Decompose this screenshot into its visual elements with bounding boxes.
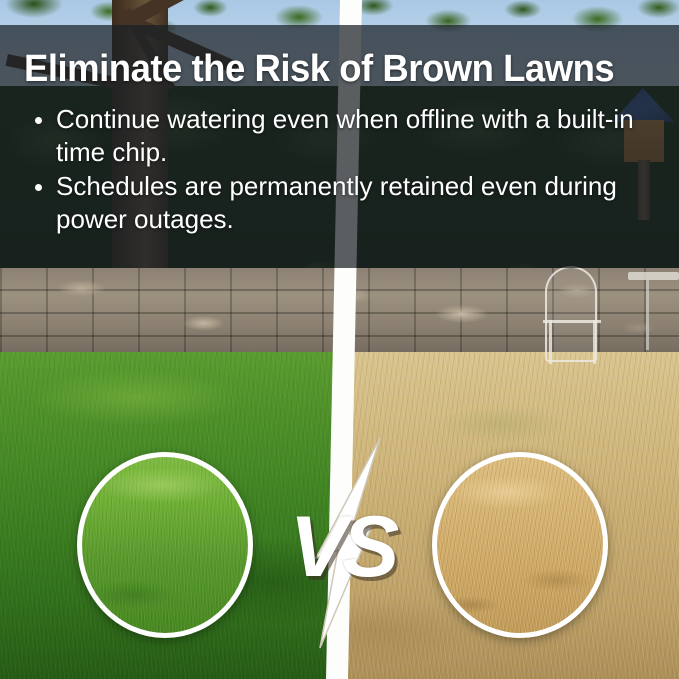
- list-item: Continue watering even when offline with…: [24, 103, 664, 169]
- green-lawn-closeup-circle: [77, 452, 253, 638]
- vs-badge: VS: [262, 430, 422, 655]
- page-title: Eliminate the Risk of Brown Lawns: [24, 49, 638, 89]
- feature-bullet-list: Continue watering even when offline with…: [24, 103, 664, 236]
- text-overlay-panel: Eliminate the Risk of Brown Lawns Contin…: [0, 25, 679, 268]
- vs-label: VS: [262, 504, 422, 590]
- list-item: Schedules are permanently retained even …: [24, 170, 664, 236]
- promo-image: VS Eliminate the Risk of Brown Lawns Con…: [0, 0, 679, 679]
- garden-chair: [545, 266, 597, 362]
- brown-lawn-closeup-circle: [432, 452, 608, 638]
- garden-table: [628, 272, 679, 280]
